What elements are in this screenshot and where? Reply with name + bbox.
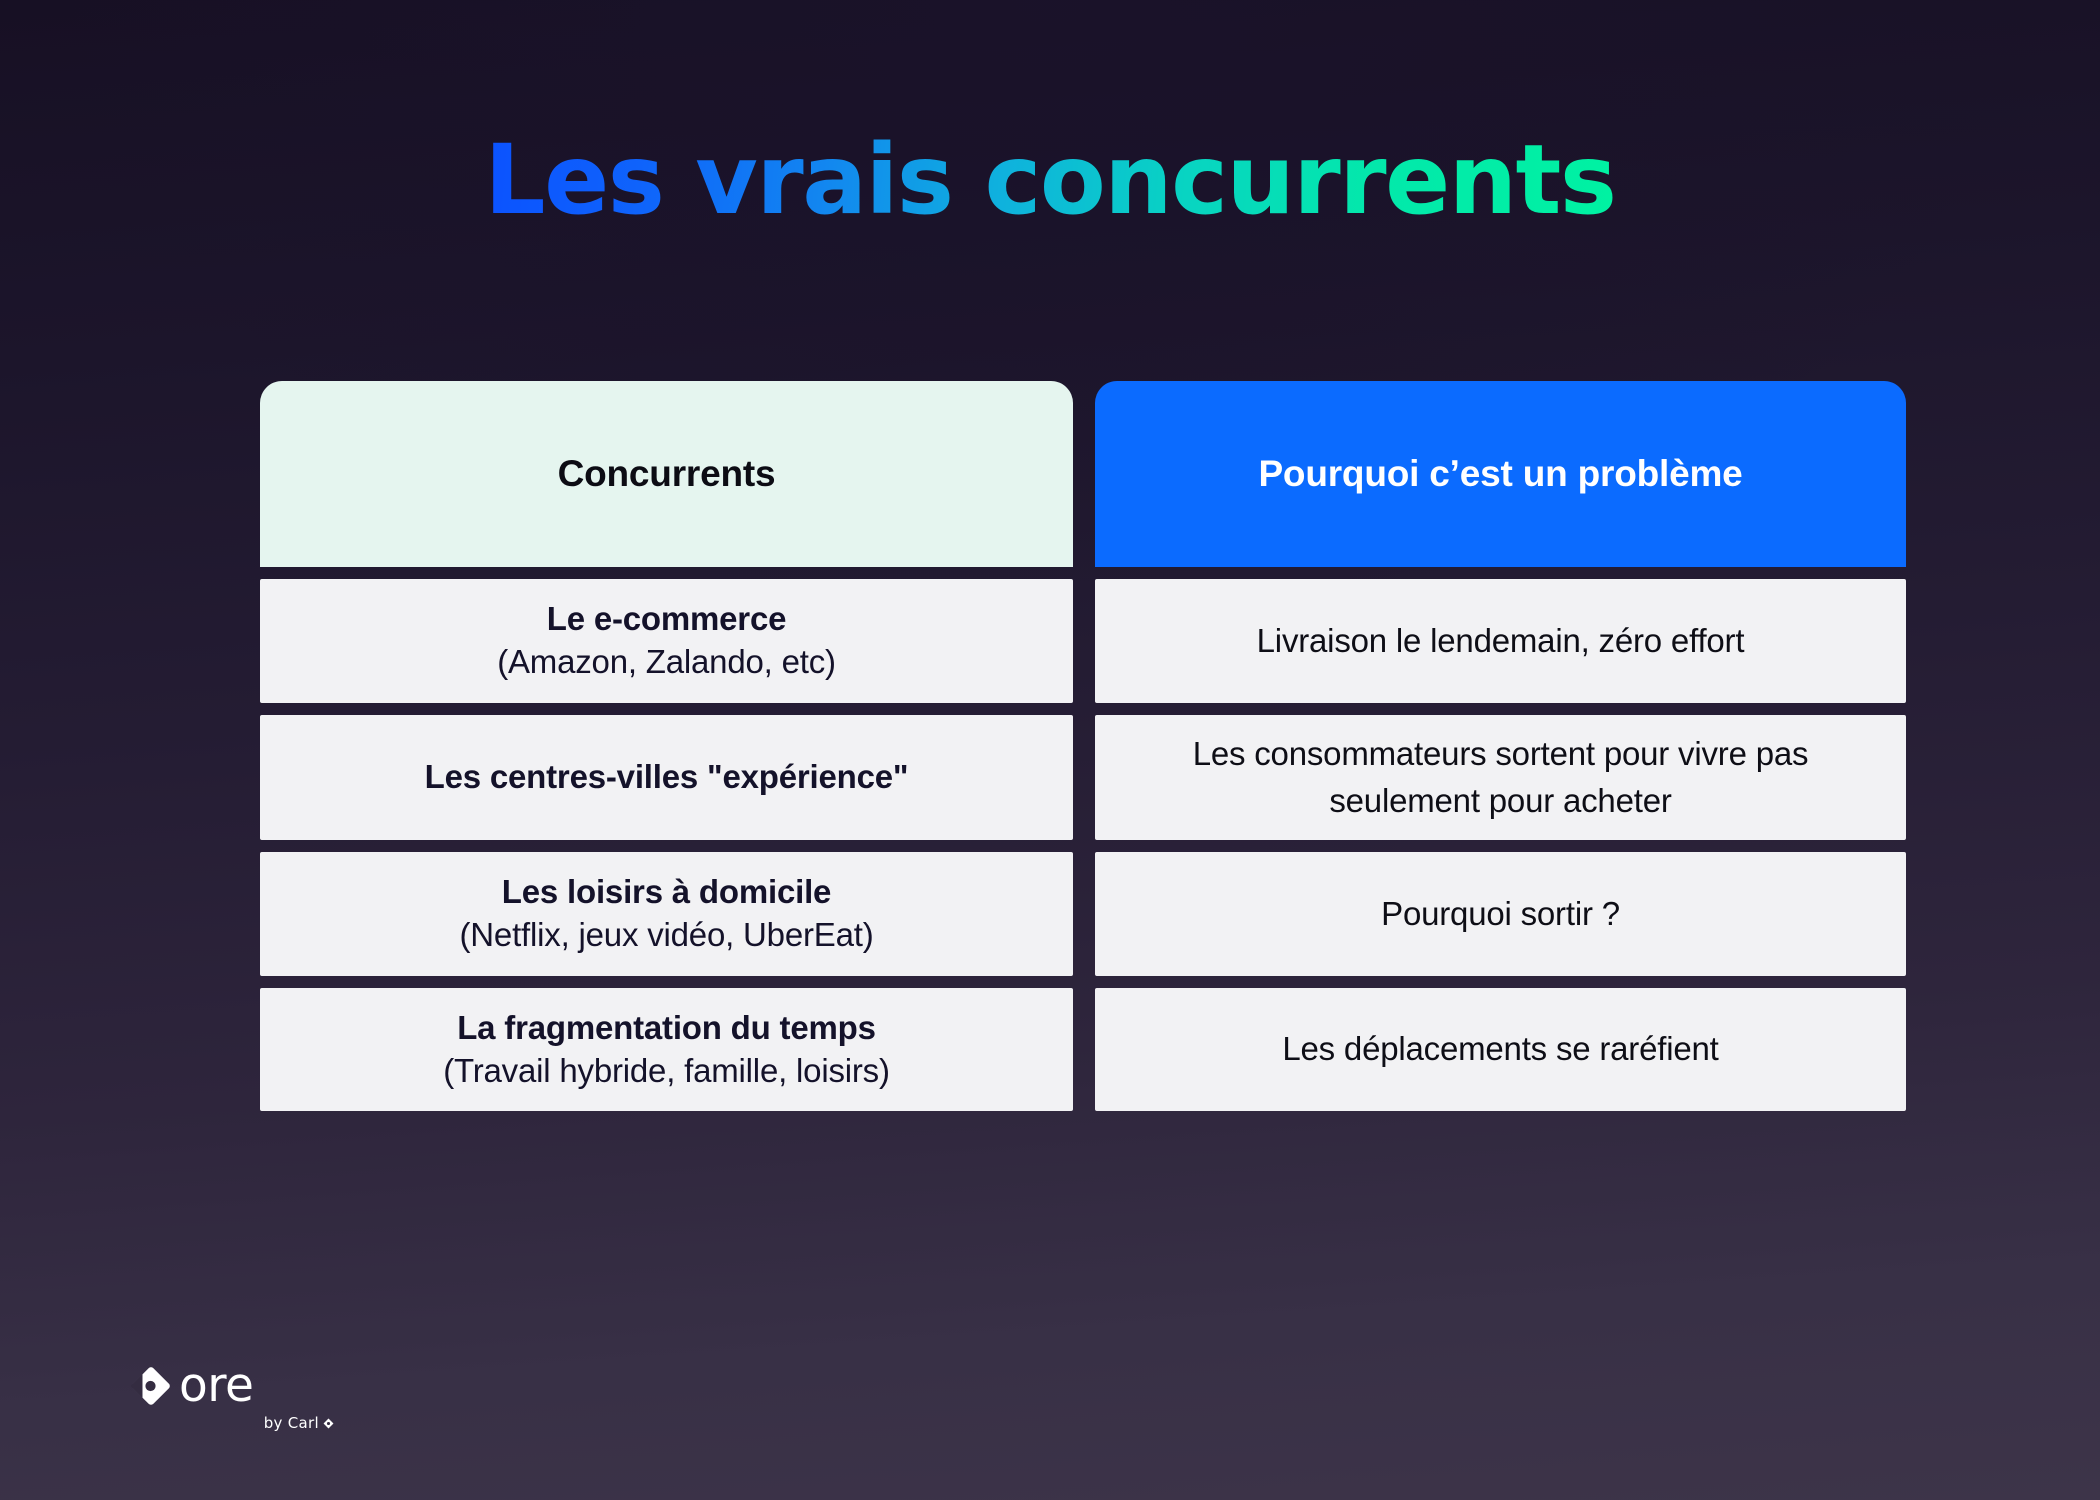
competitor-name: Les loisirs à domicile — [502, 871, 831, 914]
problem-text: Pourquoi sortir ? — [1381, 891, 1620, 937]
table-row: Les centres-villes "expérience" Les cons… — [260, 715, 1906, 840]
table-header-problem-label: Pourquoi c’est un problème — [1258, 453, 1742, 495]
table-header-competitors-label: Concurrents — [558, 453, 776, 495]
brand-logo: ore by Carl — [128, 1362, 338, 1432]
problem-text: Les consommateurs sortent pour vivre pas… — [1125, 731, 1876, 823]
table-header-competitors: Concurrents — [260, 381, 1073, 567]
problem-text: Les déplacements se raréfient — [1282, 1026, 1718, 1072]
competitor-detail: (Netflix, jeux vidéo, UberEat) — [460, 914, 874, 957]
table-cell-problem: Livraison le lendemain, zéro effort — [1095, 579, 1906, 703]
table-cell-competitor: Le e-commerce (Amazon, Zalando, etc) — [260, 579, 1073, 703]
logo-row: ore — [128, 1362, 338, 1410]
logo-tagline: by Carl — [128, 1414, 338, 1432]
competitor-name: La fragmentation du temps — [457, 1007, 876, 1050]
competitor-detail: (Travail hybride, famille, loisirs) — [443, 1050, 890, 1093]
table-cell-competitor: La fragmentation du temps (Travail hybri… — [260, 988, 1073, 1111]
table-row: La fragmentation du temps (Travail hybri… — [260, 988, 1906, 1111]
table-header-problem: Pourquoi c’est un problème — [1095, 381, 1906, 567]
logo-wordmark: ore — [179, 1364, 253, 1409]
diamond-dot-icon — [323, 1418, 334, 1429]
competitor-name: Les centres-villes "expérience" — [425, 756, 909, 799]
table-row: Le e-commerce (Amazon, Zalando, etc) Liv… — [260, 579, 1906, 703]
core-diamond-icon — [128, 1363, 174, 1409]
competitor-name: Le e-commerce — [547, 598, 787, 641]
table-header-row: Concurrents Pourquoi c’est un problème — [260, 381, 1906, 567]
logo-tagline-text: by Carl — [264, 1414, 319, 1432]
table-cell-competitor: Les centres-villes "expérience" — [260, 715, 1073, 840]
table-cell-competitor: Les loisirs à domicile (Netflix, jeux vi… — [260, 852, 1073, 976]
table-cell-problem: Les consommateurs sortent pour vivre pas… — [1095, 715, 1906, 840]
comparison-table: Concurrents Pourquoi c’est un problème L… — [260, 381, 1906, 1111]
problem-text: Livraison le lendemain, zéro effort — [1257, 618, 1745, 664]
competitor-detail: (Amazon, Zalando, etc) — [497, 641, 836, 684]
table-cell-problem: Les déplacements se raréfient — [1095, 988, 1906, 1111]
page-title: Les vrais concurrents — [484, 132, 1615, 228]
table-row: Les loisirs à domicile (Netflix, jeux vi… — [260, 852, 1906, 976]
table-cell-problem: Pourquoi sortir ? — [1095, 852, 1906, 976]
slide-title-container: Les vrais concurrents — [0, 132, 2100, 228]
